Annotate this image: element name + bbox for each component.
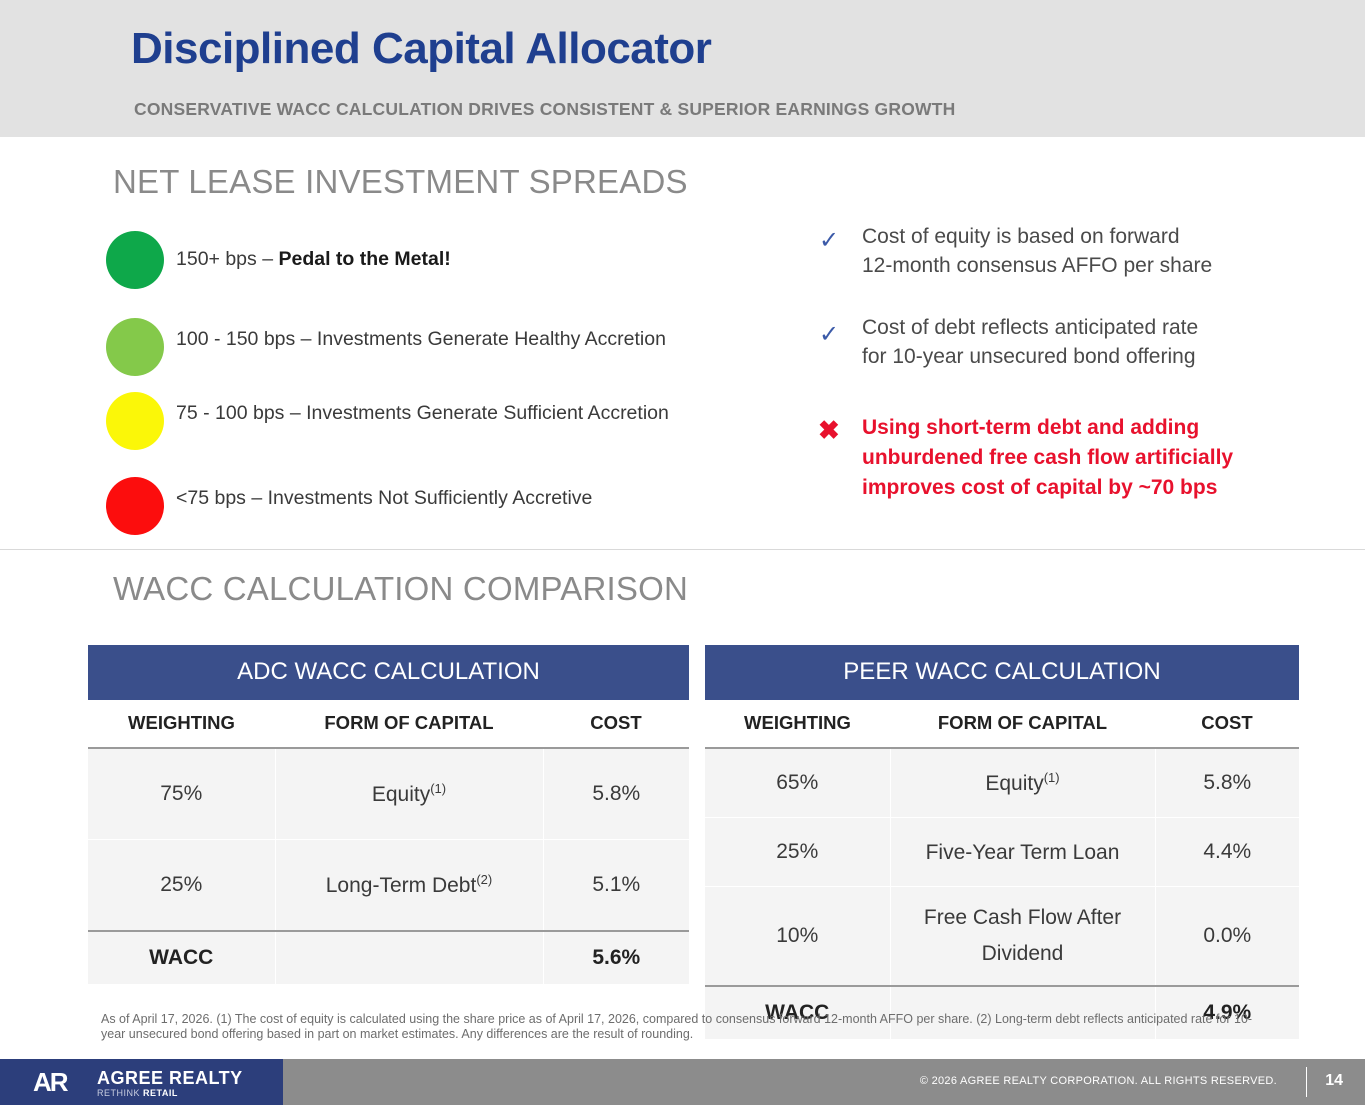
brand-name: AGREE REALTY [97,1068,243,1089]
adc-table-title: ADC WACC CALCULATION [88,645,689,700]
x-icon: ✖ [818,415,840,446]
check-icon: ✓ [819,226,839,255]
slide-header: Disciplined Capital Allocator CONSERVATI… [0,0,1365,137]
section-title-spreads: NET LEASE INVESTMENT SPREADS [113,163,688,201]
legend-label-0: 150+ bps – Pedal to the Metal! [176,248,451,271]
adc-row0-weighting: 75% [88,748,275,840]
adc-col-cost: COST [543,700,689,748]
adc-row1-form: Long-Term Debt(2) [275,840,543,932]
peer-col-weighting: WEIGHTING [705,700,890,748]
copyright-text: © 2026 AGREE REALTY CORPORATION. ALL RIG… [920,1075,1277,1087]
note-0-line1: Cost of equity is based on forward [862,222,1180,252]
legend-label-2: 75 - 100 bps – Investments Generate Suff… [176,402,669,425]
peer-col-cost: COST [1155,700,1299,748]
table-row: 10% Free Cash Flow After Dividend 0.0% [705,887,1299,987]
peer-row0-cost: 5.8% [1155,748,1299,818]
peer-row2-form: Free Cash Flow After Dividend [890,887,1155,987]
adc-row1-cost: 5.1% [543,840,689,932]
peer-row1-form: Five-Year Term Loan [890,818,1155,887]
warning-line1: Using short-term debt and adding [862,413,1199,443]
adc-row0-cost: 5.8% [543,748,689,840]
legend-label-1: 100 - 150 bps – Investments Generate Hea… [176,328,666,351]
peer-row0-weighting: 65% [705,748,890,818]
page-number: 14 [1325,1072,1343,1090]
peer-row2-weighting: 10% [705,887,890,987]
legend-dot-red [106,477,164,535]
peer-row0-form: Equity(1) [890,748,1155,818]
peer-wacc-table: PEER WACC CALCULATION WEIGHTING FORM OF … [705,645,1299,1039]
adc-total-row: WACC 5.6% [88,931,689,984]
peer-table-header: PEER WACC CALCULATION [705,645,1299,700]
legend-dot-yellow [106,392,164,450]
note-0-line2: 12-month consensus AFFO per share [862,251,1212,281]
adc-total-blank [275,931,543,984]
section-divider [0,549,1365,550]
adc-total-label: WACC [88,931,275,984]
adc-wacc-table: ADC WACC CALCULATION WEIGHTING FORM OF C… [88,645,689,984]
table-row: 25% Five-Year Term Loan 4.4% [705,818,1299,887]
table-row: 65% Equity(1) 5.8% [705,748,1299,818]
slide-footer: AR AGREE REALTY RETHINK RETAIL © 2026 AG… [0,1059,1365,1105]
adc-col-form: FORM OF CAPITAL [275,700,543,748]
footer-separator [1306,1067,1307,1097]
table-row: 75% Equity(1) 5.8% [88,748,689,840]
footnote: As of April 17, 2026. (1) The cost of eq… [101,1012,1261,1042]
brand-logo-box: AR AGREE REALTY RETHINK RETAIL [0,1059,283,1105]
adc-row0-form: Equity(1) [275,748,543,840]
section-title-wacc: WACC CALCULATION COMPARISON [113,570,688,608]
adc-column-headers: WEIGHTING FORM OF CAPITAL COST [88,700,689,748]
warning-line2: unburdened free cash flow artificially [862,443,1233,473]
adc-total-value: 5.6% [543,931,689,984]
warning-line3: improves cost of capital by ~70 bps [862,473,1217,503]
note-1-line2: for 10-year unsecured bond offering [862,342,1196,372]
agree-realty-logo-icon: AR [33,1067,81,1097]
adc-table-header: ADC WACC CALCULATION [88,645,689,700]
peer-row1-weighting: 25% [705,818,890,887]
peer-table-title: PEER WACC CALCULATION [705,645,1299,700]
adc-row1-weighting: 25% [88,840,275,932]
table-row: 25% Long-Term Debt(2) 5.1% [88,840,689,932]
page-title: Disciplined Capital Allocator [131,24,711,74]
page-subtitle: CONSERVATIVE WACC CALCULATION DRIVES CON… [134,99,955,120]
peer-col-form: FORM OF CAPITAL [890,700,1155,748]
legend-dot-light-green [106,318,164,376]
legend-label-3: <75 bps – Investments Not Sufficiently A… [176,487,592,510]
brand-tagline: RETHINK RETAIL [97,1088,178,1098]
peer-row2-cost: 0.0% [1155,887,1299,987]
peer-row1-cost: 4.4% [1155,818,1299,887]
note-1-line1: Cost of debt reflects anticipated rate [862,313,1198,343]
peer-column-headers: WEIGHTING FORM OF CAPITAL COST [705,700,1299,748]
check-icon: ✓ [819,320,839,349]
adc-col-weighting: WEIGHTING [88,700,275,748]
legend-dot-green [106,231,164,289]
